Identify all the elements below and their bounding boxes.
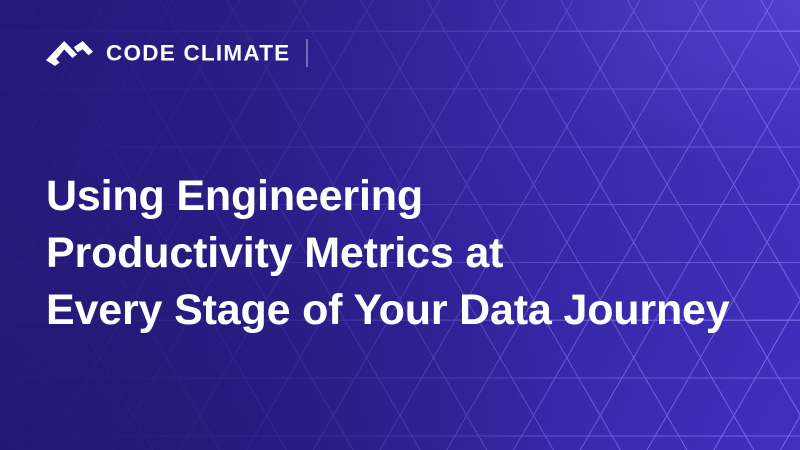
headline-line-2: Productivity Metrics at xyxy=(46,225,776,282)
code-climate-chevrons-icon xyxy=(46,41,93,66)
page-title: Using Engineering Productivity Metrics a… xyxy=(46,168,776,339)
headline-line-3: Every Stage of Your Data Journey xyxy=(46,282,776,339)
headline-line-1: Using Engineering xyxy=(46,168,776,225)
brand-logo-lockup[interactable]: CODE CLIMATE xyxy=(46,38,308,68)
title-card-slide: CODE CLIMATE Using Engineering Productiv… xyxy=(0,0,800,450)
brand-divider xyxy=(306,39,308,67)
brand-wordmark: CODE CLIMATE xyxy=(106,42,290,65)
